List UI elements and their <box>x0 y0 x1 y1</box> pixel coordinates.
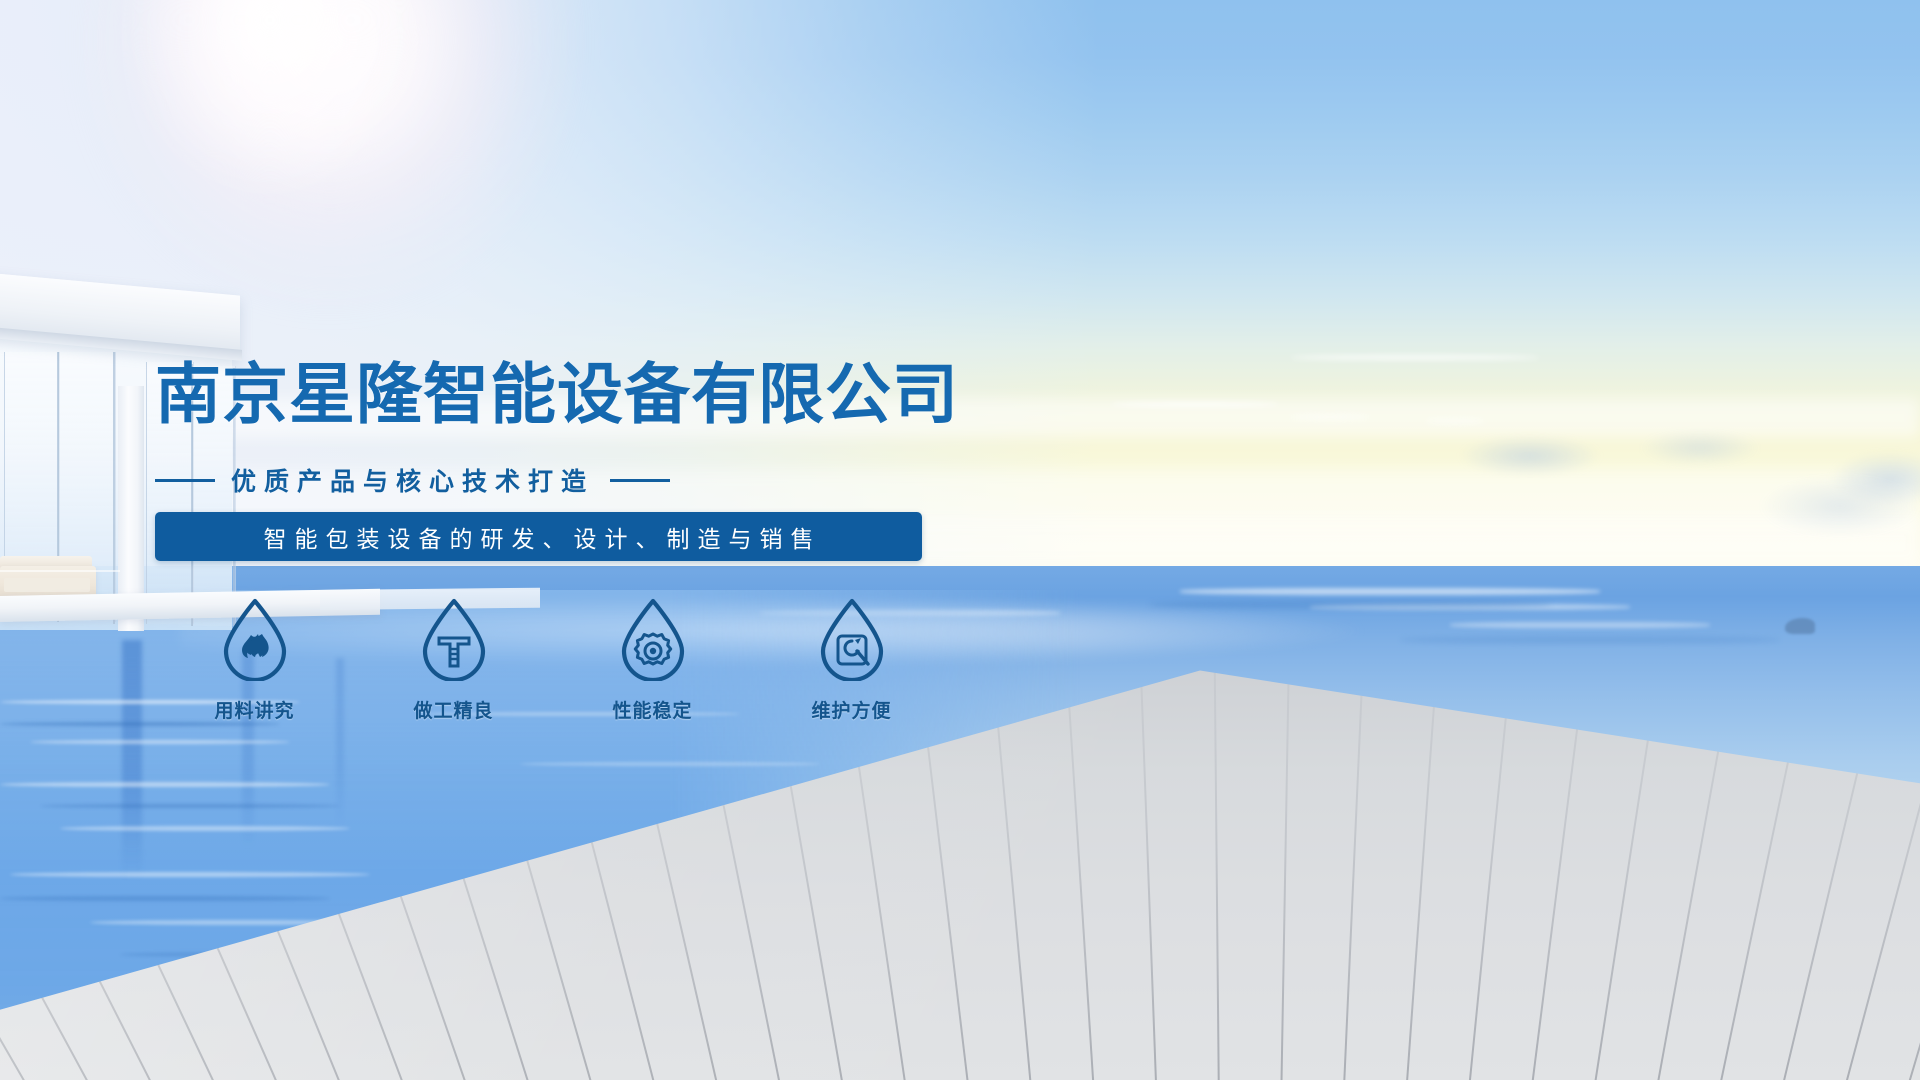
tagline-bar: 智能包装设备的研发、设计、制造与销售 <box>155 512 922 561</box>
feature-label: 维护方便 <box>811 696 891 723</box>
feature-label: 性能稳定 <box>612 696 692 723</box>
feature-item[interactable]: 性能稳定 <box>553 595 752 723</box>
tagline-text: 智能包装设备的研发、设计、制造与销售 <box>256 520 822 554</box>
banner-content: 南京星隆智能设备有限公司 优质产品与核心技术打造 智能包装设备的研发、设计、制造… <box>0 0 1920 1080</box>
droplet-wrench-icon <box>815 595 889 681</box>
droplet-ruler-icon <box>417 595 491 681</box>
feature-label: 用料讲究 <box>214 696 294 723</box>
feature-list: 用料讲究 做工精良 <box>155 595 951 723</box>
feature-item[interactable]: 用料讲究 <box>155 595 354 723</box>
feature-item[interactable]: 做工精良 <box>354 595 553 723</box>
page-title: 南京星隆智能设备有限公司 <box>155 362 959 428</box>
feature-label: 做工精良 <box>413 696 493 723</box>
rule-left-icon <box>155 479 215 482</box>
hero-banner: 南京星隆智能设备有限公司 优质产品与核心技术打造 智能包装设备的研发、设计、制造… <box>0 0 1920 1080</box>
feature-item[interactable]: 维护方便 <box>752 595 951 723</box>
rule-right-icon <box>610 479 670 482</box>
droplet-flame-icon <box>218 595 292 681</box>
droplet-gear-icon <box>616 595 690 681</box>
subtitle-row: 优质产品与核心技术打造 <box>155 462 670 498</box>
subtitle-text: 优质产品与核心技术打造 <box>231 462 594 498</box>
